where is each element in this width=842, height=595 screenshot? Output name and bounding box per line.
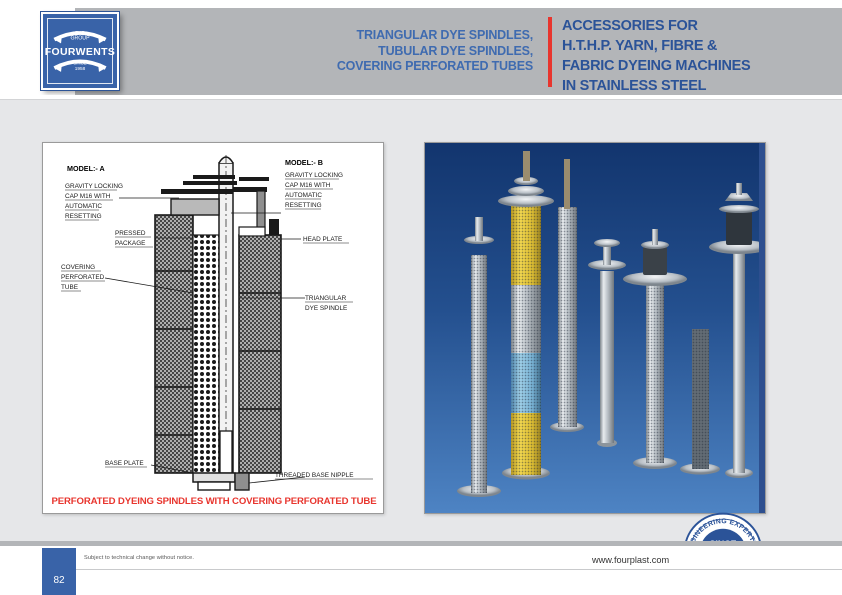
page-number-tab: 82: [42, 548, 76, 595]
svg-text:COVERING: COVERING: [61, 264, 95, 271]
label-head-plate: HEAD PLATE: [303, 236, 349, 243]
label-triangular-spindle: TRIANGULAR DYE SPINDLE: [305, 295, 353, 312]
header-left-title: TRIANGULAR DYE SPINDLES, TUBULAR DYE SPI…: [203, 28, 533, 75]
label-covering-tube: COVERING PERFORATED TUBE: [61, 264, 105, 291]
base-assembly: [193, 473, 249, 490]
header-left-line-2: TUBULAR DYE SPINDLES,: [203, 44, 533, 60]
label-threaded-base-nipple: THREADED BASE NIPPLE: [275, 472, 373, 479]
header-right-line-4: IN STAINLESS STEEL: [562, 76, 842, 96]
product-photo-panel: [424, 142, 766, 514]
header-left-line-1: TRIANGULAR DYE SPINDLES,: [203, 28, 533, 44]
logo-graphic: THE GROUP FOURWENTS SINCE 1958: [43, 14, 117, 88]
footer-disclaimer: Subject to technical change without noti…: [84, 555, 194, 561]
header-right-line-3: FABRIC DYEING MACHINES: [562, 56, 842, 76]
header-right-title: ACCESSORIES FOR H.T.H.P. YARN, FIBRE & F…: [562, 16, 842, 96]
page-footer: [0, 541, 842, 595]
svg-text:CAP M16 WITH: CAP M16 WITH: [285, 182, 331, 189]
footer-website: www.fourplast.com: [592, 555, 669, 565]
header-red-divider: [548, 17, 552, 87]
logo-year-text: 1958: [75, 66, 86, 72]
svg-text:THREADED BASE NIPPLE: THREADED BASE NIPPLE: [275, 472, 354, 479]
header-left-line-3: COVERING PERFORATED TUBES: [203, 59, 533, 75]
pressed-package-section: [193, 235, 219, 473]
technical-drawing: MODEL:- A GRAVITY LOCKING CAP M16 WITH A…: [43, 143, 384, 514]
svg-text:GRAVITY LOCKING: GRAVITY LOCKING: [285, 172, 343, 179]
model-b-column: [239, 235, 281, 473]
svg-text:GRAVITY LOCKING: GRAVITY LOCKING: [65, 183, 123, 190]
svg-text:AUTOMATIC: AUTOMATIC: [285, 192, 322, 199]
center-spindle: [219, 155, 233, 473]
svg-text:RESETTING: RESETTING: [285, 202, 322, 209]
drawing-caption: PERFORATED DYEING SPINDLES WITH COVERING…: [43, 496, 384, 507]
header-right-line-1: ACCESSORIES FOR: [562, 16, 842, 36]
page-header: THE GROUP FOURWENTS SINCE 1958 TRIANGULA…: [0, 0, 842, 95]
label-gravity-b: GRAVITY LOCKING CAP M16 WITH AUTOMATIC R…: [285, 172, 343, 209]
label-gravity-a: GRAVITY LOCKING CAP M16 WITH AUTOMATIC R…: [65, 183, 123, 220]
logo-group-text: GROUP: [70, 36, 90, 42]
product-photo: [425, 143, 766, 514]
logo-since-text: SINCE: [73, 60, 86, 65]
technical-drawing-panel: MODEL:- A GRAVITY LOCKING CAP M16 WITH A…: [42, 142, 384, 514]
svg-text:CAP M16 WITH: CAP M16 WITH: [65, 193, 111, 200]
model-a-title: MODEL:- A: [67, 164, 105, 173]
svg-text:PERFORATED: PERFORATED: [61, 274, 105, 281]
svg-text:PRESSED: PRESSED: [115, 230, 146, 237]
label-pressed-package: PRESSED PACKAGE: [115, 230, 153, 247]
page-number: 82: [53, 575, 64, 586]
svg-text:AUTOMATIC: AUTOMATIC: [65, 203, 102, 210]
svg-text:TUBE: TUBE: [61, 284, 78, 291]
svg-text:HEAD PLATE: HEAD PLATE: [303, 236, 342, 243]
company-logo: THE GROUP FOURWENTS SINCE 1958: [41, 12, 119, 90]
header-right-line-2: H.T.H.P. YARN, FIBRE &: [562, 36, 842, 56]
model-a-covering-tube: [155, 215, 193, 473]
footer-thin-rule: [76, 569, 842, 570]
svg-text:DYE SPINDLE: DYE SPINDLE: [305, 305, 347, 312]
svg-text:PACKAGE: PACKAGE: [115, 240, 145, 247]
logo-brand-text: FOURWENTS: [45, 47, 115, 58]
label-base-plate: BASE PLATE: [105, 460, 147, 467]
body-top-rule: [0, 99, 842, 100]
svg-text:BASE PLATE: BASE PLATE: [105, 460, 144, 467]
photo-right-strip: [759, 143, 765, 513]
model-b-title: MODEL:- B: [285, 158, 323, 167]
svg-text:TRIANGULAR: TRIANGULAR: [305, 295, 347, 302]
svg-text:RESETTING: RESETTING: [65, 213, 102, 220]
footer-gray-rule: [0, 541, 842, 546]
